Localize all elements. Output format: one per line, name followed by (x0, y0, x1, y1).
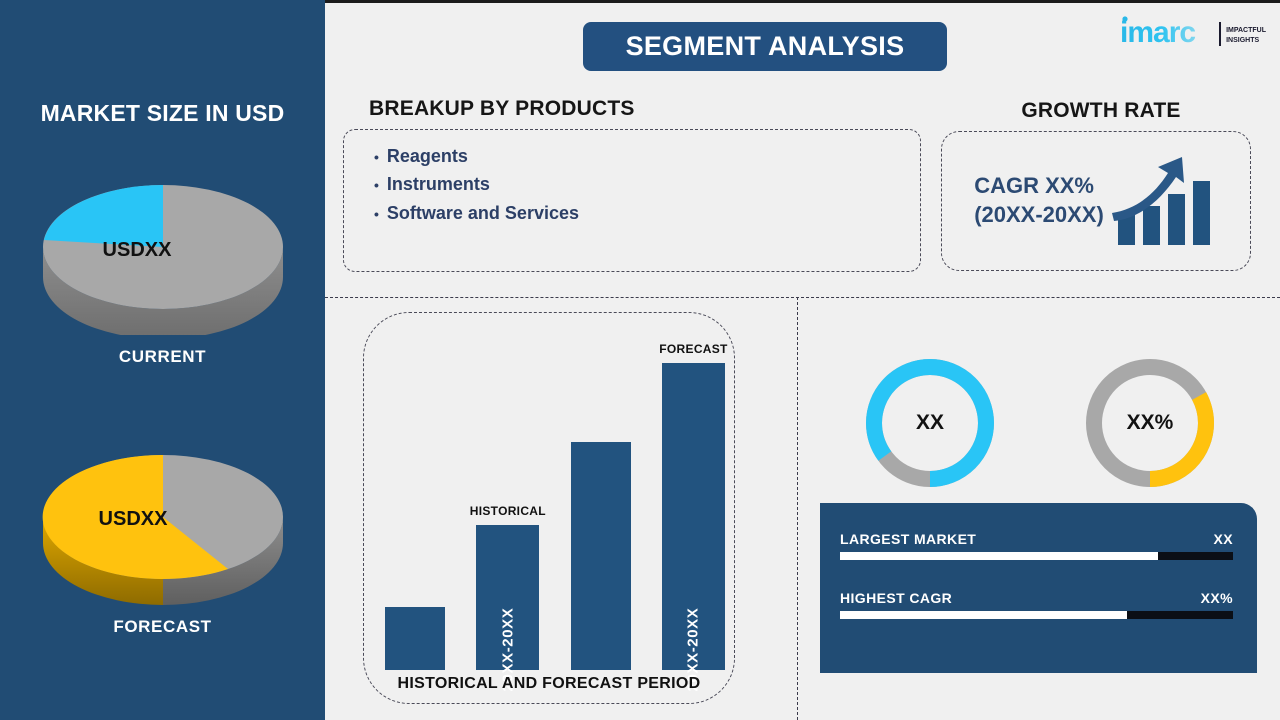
stat-header: LARGEST MARKET XX (840, 531, 1233, 547)
market-size-sidebar: MARKET SIZE IN USD USDXX CURRENT (0, 0, 325, 720)
donut-center-label: XX% (1080, 353, 1220, 493)
table-row (571, 442, 631, 670)
breakup-list: • Reagents • Instruments • Software and … (344, 130, 920, 227)
list-item-label: Instruments (387, 170, 490, 198)
stat-label: HIGHEST CAGR (840, 590, 952, 606)
list-item-label: Reagents (387, 142, 468, 170)
logo-tagline: IMPACTFUL INSIGHTS (1226, 26, 1266, 45)
table-row: FORECAST 20XX-20XX (662, 363, 725, 670)
barchart-xlabel: HISTORICAL AND FORECAST PERIOD (363, 675, 735, 693)
vertical-divider (797, 297, 798, 720)
current-pie-caption: CURRENT (0, 347, 325, 367)
svg-text:imarc: imarc (1120, 16, 1195, 48)
list-item: • Instruments (374, 170, 920, 198)
bullet-icon: • (374, 178, 379, 192)
imarc-logo: imarc IMPACTFUL INSIGHTS (1120, 14, 1266, 48)
current-pie-svg: USDXX (33, 160, 293, 335)
logo-tagline-line1: IMPACTFUL (1226, 26, 1266, 35)
progress-track (840, 611, 1233, 619)
growth-content: CAGR XX% (20XX-20XX) (941, 131, 1251, 271)
growth-bars-arrow-icon (1110, 151, 1218, 251)
progress-fill (840, 611, 1127, 619)
page-title: SEGMENT ANALYSIS (626, 31, 905, 62)
list-item-label: Software and Services (387, 199, 579, 227)
highest-cagr-donut: XX% (1080, 353, 1220, 493)
table-row: HISTORICAL 20XX-20XX (476, 525, 539, 670)
breakup-card: • Reagents • Instruments • Software and … (343, 129, 921, 272)
forecast-pie-chart: USDXX FORECAST (0, 430, 325, 637)
horizontal-divider (325, 297, 1280, 298)
current-pie-chart: USDXX CURRENT (0, 160, 325, 367)
table-row (385, 607, 445, 670)
imarc-wordmark-icon: imarc (1120, 14, 1216, 48)
forecast-pie-slice-label: USDXX (98, 508, 168, 530)
growth-heading: GROWTH RATE (940, 99, 1262, 123)
stat-value: XX% (1201, 590, 1233, 606)
bullet-icon: • (374, 150, 379, 164)
logo-divider (1219, 22, 1221, 46)
stat-header: HIGHEST CAGR XX% (840, 590, 1233, 606)
barchart-annotation-forecast: FORECAST (659, 342, 727, 356)
stat-label: LARGEST MARKET (840, 531, 976, 547)
forecast-pie-caption: FORECAST (0, 617, 325, 637)
donut-center-label: XX (860, 353, 1000, 493)
largest-market-donut: XX (860, 353, 1000, 493)
progress-track (840, 552, 1233, 560)
bullet-icon: • (374, 207, 379, 221)
cagr-text: CAGR XX% (20XX-20XX) (974, 172, 1104, 229)
historical-forecast-barchart: HISTORICAL 20XX-20XX FORECAST 20XX-20XX (385, 340, 725, 670)
stat-row-highest-cagr: HIGHEST CAGR XX% (840, 590, 1233, 619)
current-pie-slice-label: USDXX (102, 239, 172, 261)
forecast-pie-svg: USDXX (33, 430, 293, 605)
sidebar-title: MARKET SIZE IN USD (0, 100, 325, 127)
barchart-annotation-historical: HISTORICAL (470, 504, 546, 518)
cagr-line1: CAGR XX% (974, 172, 1104, 201)
cagr-line2: (20XX-20XX) (974, 201, 1104, 230)
stat-value: XX (1214, 531, 1233, 547)
breakup-heading: BREAKUP BY PRODUCTS (369, 97, 635, 121)
stat-row-largest-market: LARGEST MARKET XX (840, 531, 1233, 560)
donut-group: XX XX% (820, 350, 1260, 495)
progress-fill (840, 552, 1158, 560)
logo-tagline-line2: INSIGHTS (1226, 36, 1266, 45)
page-title-banner: SEGMENT ANALYSIS (583, 22, 947, 71)
list-item: • Software and Services (374, 199, 920, 227)
stats-panel: LARGEST MARKET XX HIGHEST CAGR XX% (820, 503, 1257, 673)
barchart-bars: HISTORICAL 20XX-20XX FORECAST 20XX-20XX (385, 363, 725, 670)
list-item: • Reagents (374, 142, 920, 170)
